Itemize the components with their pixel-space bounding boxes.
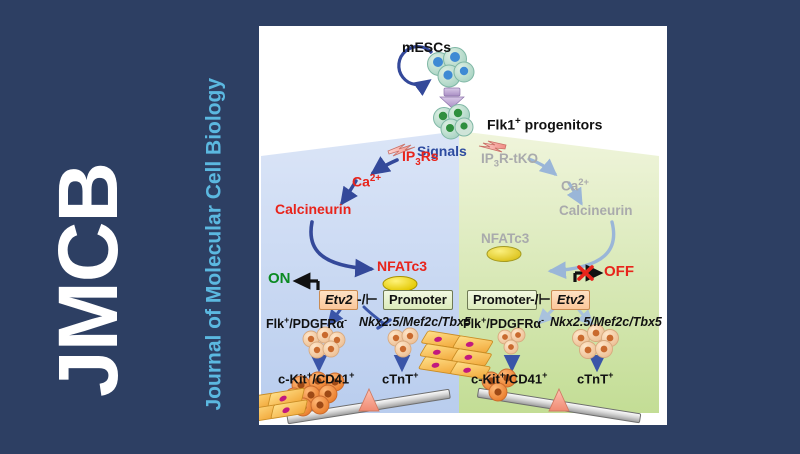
inhibition-symbol-left: -/⊢ bbox=[357, 292, 378, 306]
calcium-label-left: Ca2+ bbox=[352, 174, 381, 189]
figure-canvas: mESCs Flk1+ progenitors Signals IP3Rs Ca… bbox=[259, 26, 667, 425]
outcome-ckit-cd41-left: c-Kit+/CD41+ bbox=[278, 371, 354, 385]
promoter-box-right[interactable]: Promoter bbox=[467, 290, 537, 310]
nfat-oval-right bbox=[487, 247, 521, 262]
journal-branding: JMCB Journal of Molecular Cell Biology bbox=[0, 0, 260, 454]
calcineurin-label-left: Calcineurin bbox=[275, 202, 351, 216]
outcome-ctnt-right: cTnT+ bbox=[577, 371, 613, 385]
on-state-label: ON bbox=[268, 271, 291, 286]
nfatc3-label-right: NFATc3 bbox=[481, 232, 529, 246]
outcome-ctnt-left: cTnT+ bbox=[382, 371, 418, 385]
marker-flk-pdgfra-left: Flk+/PDGFRα- bbox=[266, 316, 347, 331]
journal-subtitle: Journal of Molecular Cell Biology bbox=[204, 11, 225, 411]
promoter-box-left[interactable]: Promoter bbox=[383, 290, 453, 310]
calcium-label-right: Ca2+ bbox=[561, 178, 589, 193]
cover-figure-panel: mESCs Flk1+ progenitors Signals IP3Rs Ca… bbox=[259, 26, 667, 425]
etv2-box-right[interactable]: Etv2 bbox=[551, 290, 590, 310]
figure-graphics bbox=[259, 26, 667, 425]
mescs-label: mESCs bbox=[402, 40, 451, 54]
ip3r-tko-label: IP3R-tKO bbox=[481, 152, 538, 169]
nfatc3-label-left: NFATc3 bbox=[377, 259, 427, 273]
ip3rs-label: IP3Rs bbox=[402, 149, 439, 168]
marker-cardiac-genes-right: Nkx2.5/Mef2c/Tbx5 bbox=[550, 316, 662, 329]
journal-acronym: JMCB bbox=[46, 97, 130, 397]
journal-cover: JMCB Journal of Molecular Cell Biology bbox=[0, 0, 800, 454]
marker-cardiac-genes-left: Nkx2.5/Mef2c/Tbx5 bbox=[359, 316, 471, 329]
off-state-label: OFF bbox=[604, 264, 634, 279]
inhibition-symbol-right: -/⊢ bbox=[530, 292, 551, 306]
marker-flk-pdgfra-right: Flk+/PDGFRα- bbox=[463, 316, 544, 331]
etv2-box-left[interactable]: Etv2 bbox=[319, 290, 358, 310]
outcome-ckit-cd41-right: c-Kit+/CD41+ bbox=[471, 371, 547, 385]
calcineurin-label-right: Calcineurin bbox=[559, 204, 633, 218]
flk1-progenitors-label: Flk1+ progenitors bbox=[487, 117, 602, 132]
